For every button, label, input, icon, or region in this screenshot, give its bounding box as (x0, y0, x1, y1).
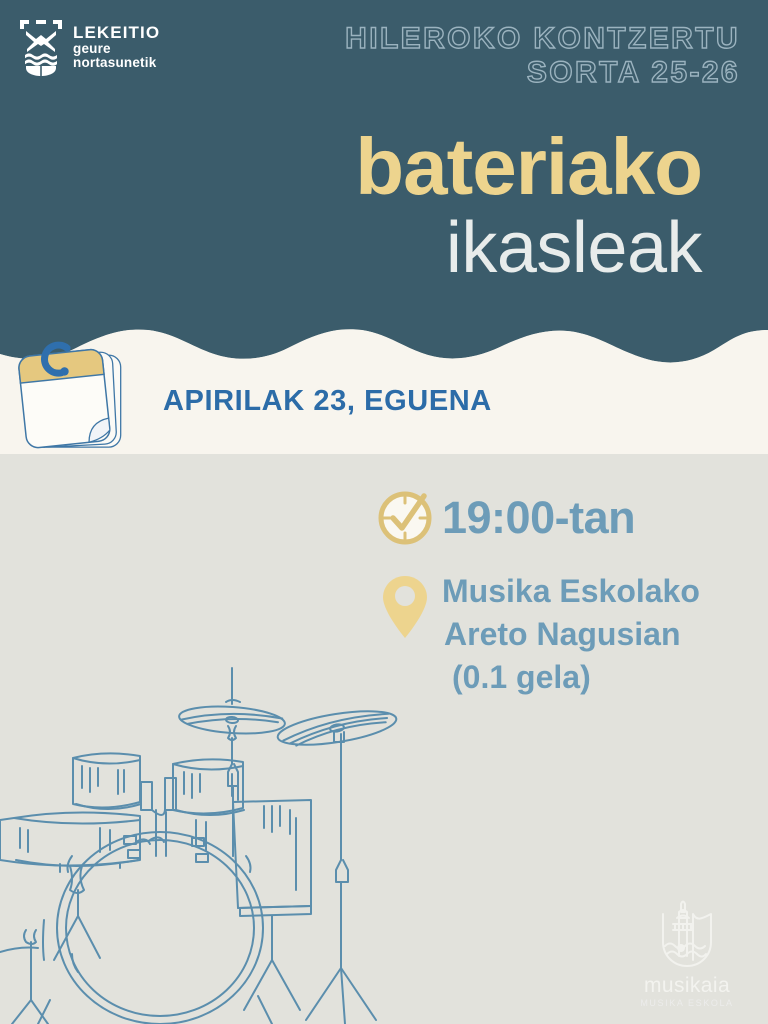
poster-title: bateriako ikasleak (0, 128, 740, 284)
musikaia-subtitle: MUSIKA ESKOLA (624, 998, 750, 1008)
title-main: bateriako (0, 128, 702, 206)
musikaia-name: musikaia (624, 974, 750, 997)
drum-kit-illustration (0, 660, 400, 1024)
lekeitio-crest-icon (18, 18, 64, 76)
event-details: 19:00-tan Musika Eskolako Areto Nagusian… (368, 486, 748, 700)
date-text: APIRILAK 23, EGUENA (163, 385, 492, 418)
musikaia-logo: musikaia MUSIKA ESKOLA (624, 894, 750, 1008)
series-header-line-1: HILEROKO KONTZERTU (345, 22, 740, 56)
lekeitio-tagline-1: geure (73, 42, 160, 56)
place-text: Musika Eskolako Areto Nagusian (0.1 gela… (442, 570, 700, 700)
time-row: 19:00-tan (368, 486, 748, 548)
map-pin-icon (368, 570, 442, 646)
lekeitio-name: LEKEITIO (73, 24, 160, 42)
lekeitio-tagline-2: nortasunetik (73, 56, 160, 70)
calendar-icon (2, 330, 148, 458)
series-header-line-2: SORTA 25-26 (345, 56, 740, 90)
place-line-3: (0.1 gela) (442, 656, 700, 699)
lighthouse-waves-icon (624, 894, 750, 972)
lekeitio-logo-wordmark: LEKEITIO geure nortasunetik (73, 24, 160, 71)
place-row: Musika Eskolako Areto Nagusian (0.1 gela… (368, 570, 748, 700)
place-line-1: Musika Eskolako (442, 570, 700, 613)
time-text: 19:00-tan (442, 495, 635, 540)
series-header: HILEROKO KONTZERTU SORTA 25-26 (345, 22, 740, 89)
lekeitio-logo: LEKEITIO geure nortasunetik (18, 18, 160, 76)
poster-canvas: LEKEITIO geure nortasunetik HILEROKO KON… (0, 0, 768, 1024)
title-sub: ikasleak (0, 212, 702, 284)
clock-icon (368, 486, 442, 548)
place-line-2: Areto Nagusian (442, 613, 700, 656)
